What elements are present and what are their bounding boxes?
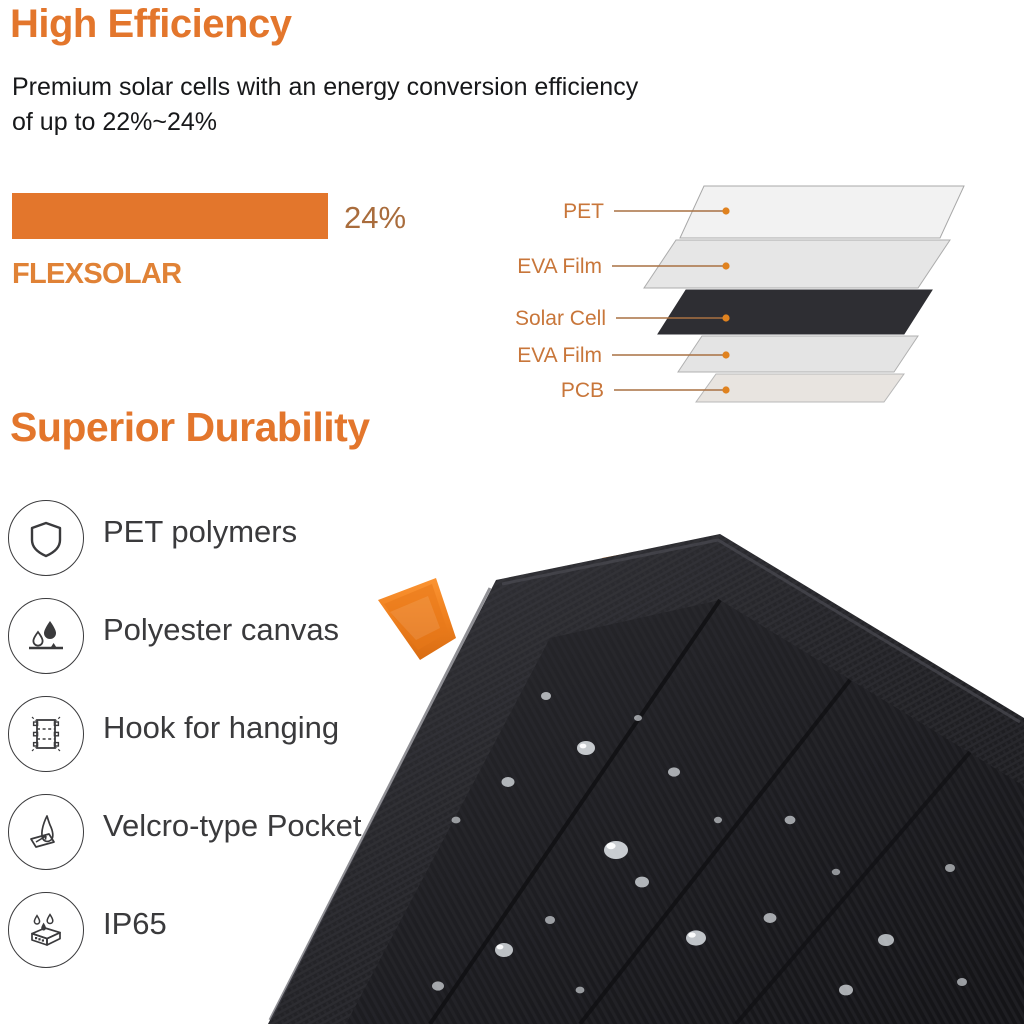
infographic-page: High Efficiency Premium solar cells with… — [0, 0, 1024, 1024]
layer-label-solar-cell: Solar Cell — [515, 307, 606, 330]
velcro-pocket-icon — [8, 794, 84, 870]
brand-logo-flexsolar: FLEXSOLAR — [12, 258, 181, 291]
water-repellent-icon — [8, 598, 84, 674]
layer-slab-eva-upper — [644, 240, 950, 288]
layer-label-eva-upper: EVA Film — [517, 255, 602, 278]
efficiency-bar-fill — [12, 193, 328, 239]
feature-label: Polyester canvas — [103, 612, 339, 648]
feature-row-polyester-canvas: Polyester canvas — [0, 598, 520, 696]
feature-row-pet-polymers: PET polymers — [0, 500, 520, 598]
layer-slab-solar-cell — [658, 290, 932, 334]
layer-label-pcb: PCB — [561, 379, 604, 402]
feature-row-hook-for-hanging: Hook for hanging — [0, 696, 520, 794]
ip-rating-box-icon — [8, 892, 84, 968]
shield-icon — [8, 500, 84, 576]
efficiency-bar-value: 24% — [344, 200, 406, 236]
layer-label-eva-lower: EVA Film — [517, 344, 602, 367]
layer-label-pet: PET — [563, 200, 604, 223]
feature-row-velcro-pocket: Velcro-type Pocket — [0, 794, 520, 892]
feature-label: PET polymers — [103, 514, 297, 550]
layer-stack-diagram: PET EVA Film Solar Cell EVA Film PCB — [480, 178, 1024, 408]
feature-label: Velcro-type Pocket — [103, 808, 361, 844]
feature-label: Hook for hanging — [103, 710, 339, 746]
efficiency-bar — [12, 193, 328, 239]
durability-feature-list: PET polymers Polyester canvas — [0, 500, 520, 990]
hook-grommet-icon — [8, 696, 84, 772]
feature-label: IP65 — [103, 906, 167, 942]
feature-row-ip65: IP65 — [0, 892, 520, 990]
layer-slab-eva-lower — [678, 336, 918, 372]
section-title-superior-durability: Superior Durability — [10, 404, 370, 451]
page-title-high-efficiency: High Efficiency — [10, 2, 291, 47]
efficiency-subtitle: Premium solar cells with an energy conve… — [12, 70, 662, 140]
